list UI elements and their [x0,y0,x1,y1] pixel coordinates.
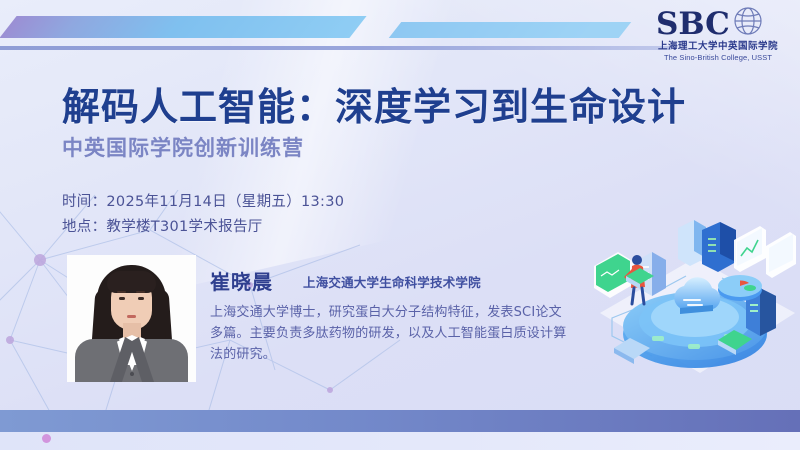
page-subtitle: 中英国际学院创新训练营 [62,132,304,162]
chart-panel [734,226,766,272]
logo-mark: SBC [648,6,788,40]
event-time: 时间：2025年11月14日（星期五）13:30 [62,190,344,211]
event-time-value: 2025年11月14日（星期五）13:30 [106,194,344,210]
globe-icon [735,8,761,34]
sbc-logo: SBC 上海理工大学中英国际学院 The Sino-British Colleg… [648,6,788,63]
event-place: 地点：教学楼T301学术报告厅 [62,215,263,236]
event-time-label: 时间： [62,194,106,210]
bottom-accent-band [0,410,800,432]
ribbon-bar-2 [395,22,610,38]
logo-chinese-name: 上海理工大学中英国际学院 [648,41,788,53]
accent-dot [42,434,51,443]
event-place-label: 地点： [62,219,106,235]
poster-canvas: SBC 上海理工大学中英国际学院 The Sino-British Colleg… [0,0,800,450]
ribbon-bar-3 [585,22,625,38]
page-title: 解码人工智能：深度学习到生命设计 [62,76,686,131]
ribbon-bar-1 [8,16,358,38]
speaker-affiliation: 上海交通大学生命科学技术学院 [303,272,481,291]
speaker-bio: 上海交通大学博士，研究蛋白大分子结构特征，发表SCI论文多篇。主要负责多肽药物的… [210,302,570,365]
event-place-value: 教学楼T301学术报告厅 [106,219,262,235]
top-divider-line [0,46,672,50]
logo-letters: SBC [656,6,730,40]
logo-english-name: The Sino-British College, USST [648,53,788,63]
pie-node [718,275,762,301]
speaker-name: 崔晓晨 [210,266,273,295]
speaker-photo [67,255,196,382]
cloud-computing-illustration [590,218,800,390]
bottom-strip [0,432,800,450]
bar-chart-panel [766,218,796,278]
